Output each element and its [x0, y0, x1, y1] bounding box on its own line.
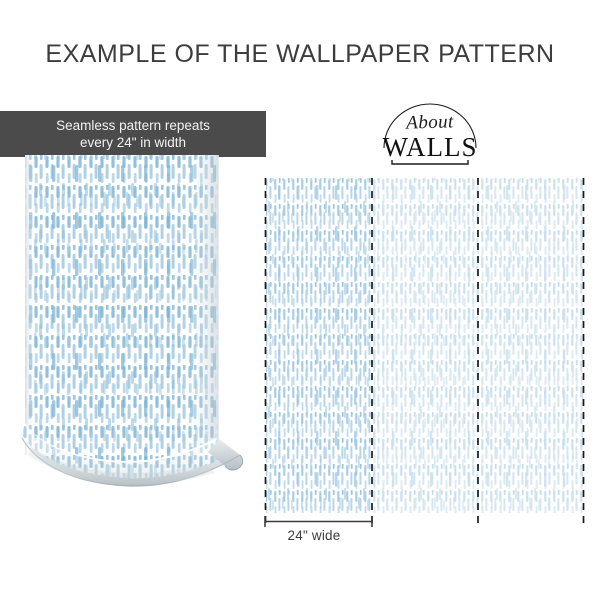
wall-panels — [255, 178, 595, 523]
panels-graphic — [255, 178, 595, 523]
banner-line-1: Seamless pattern repeats — [56, 117, 210, 134]
dimension-indicator: 24" wide — [255, 512, 600, 557]
logo-serif-word: WALLS — [378, 132, 482, 163]
panel-1 — [266, 178, 372, 513]
brand-logo: About WALLS — [378, 96, 482, 168]
wallpaper-roll — [0, 155, 250, 505]
seamless-repeat-banner: Seamless pattern repeats every 24" in wi… — [0, 111, 266, 157]
panel-2 — [372, 178, 478, 513]
roll-graphic — [0, 155, 250, 505]
banner-line-2: every 24" in width — [80, 134, 186, 151]
panel-3 — [478, 178, 583, 513]
wallpaper-example-canvas: EXAMPLE OF THE WALLPAPER PATTERN Seamles… — [0, 0, 600, 600]
page-title: EXAMPLE OF THE WALLPAPER PATTERN — [0, 40, 600, 69]
dimension-label: 24" wide — [255, 528, 373, 543]
